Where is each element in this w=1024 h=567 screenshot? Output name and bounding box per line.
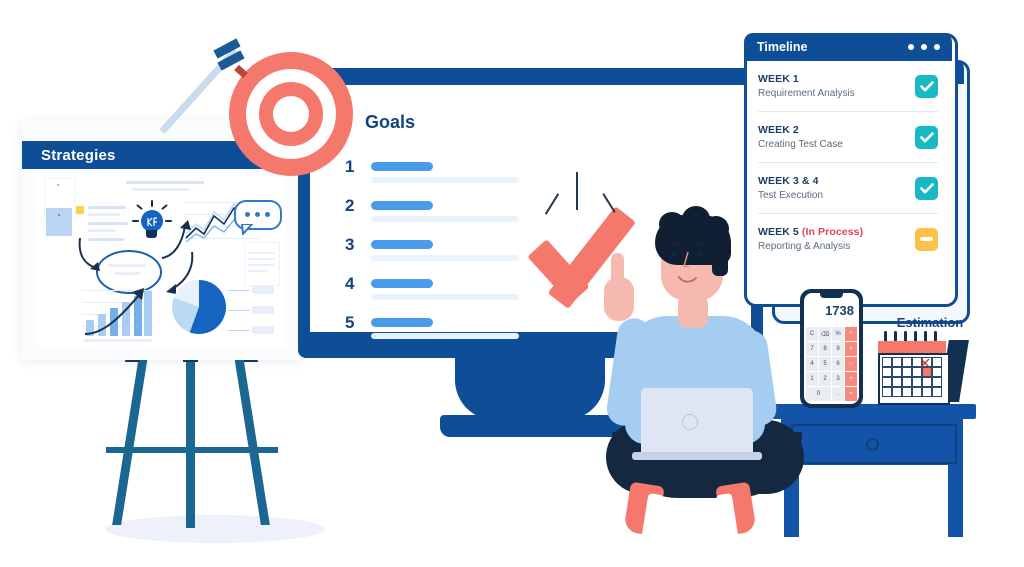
calendar-cell[interactable] [892,387,902,397]
illustration-canvas: Strategies [0,0,1024,567]
ellipse-line [108,264,146,267]
board-text-line [88,213,120,216]
calculator-keypad: C ⌫ % ÷ 7 8 9 × 4 5 6 − 1 2 3 + 0 . = [806,327,857,401]
timeline-title: Timeline [744,40,807,54]
calc-key-7[interactable]: 7 [806,342,818,356]
side-document-line [248,270,268,272]
monitor-screen-topline [310,80,751,85]
calculator-display: 1738 [804,303,859,318]
board-text-line [88,222,128,225]
calendar-cell-marked[interactable] [922,367,932,377]
calendar-cell[interactable] [912,377,922,387]
calendar-cell[interactable] [902,357,912,367]
timeline-task-label: Reporting & Analysis [758,241,863,252]
calc-key-divide[interactable]: ÷ [845,327,857,341]
easel-leg-right [233,350,270,525]
person-mouth [678,276,698,286]
goal-bar [371,201,433,210]
laptop-base [632,452,762,460]
timeline-task-label: Test Execution [758,190,823,201]
sticky-note-yellow [76,206,84,214]
ellipse-line [114,272,140,275]
timeline-row-text: WEEK 1 Requirement Analysis [758,73,855,99]
target-arrow-fletching [214,40,254,78]
desk-drawer-knob[interactable] [866,438,879,451]
calc-key-minus[interactable]: − [845,357,857,371]
check-icon [920,183,934,194]
timeline-list: WEEK 1 Requirement Analysis WEEK 2 Creat… [744,61,952,301]
goal-placeholder-line [371,255,519,261]
calendar-marked-x-icon [920,358,930,368]
calendar-cell[interactable] [892,367,902,377]
side-document-line [248,264,274,266]
timeline-window-header: Timeline [744,33,952,61]
easel-floor-shadow [105,515,325,543]
goal-bar [371,279,433,288]
calc-key-plus[interactable]: + [845,372,857,386]
target-ring-center [281,104,301,124]
person-nose [682,252,692,272]
calendar-cell[interactable] [882,357,892,367]
person-index-finger [611,253,624,289]
calendar-cell[interactable] [932,357,942,367]
calendar-cell[interactable] [882,377,892,387]
goal-placeholder-line [371,216,519,222]
timeline-row[interactable]: WEEK 1 Requirement Analysis [758,61,938,112]
window-dot-2[interactable] [921,44,927,50]
calendar-cell[interactable] [892,357,902,367]
person-eyebrow-left [668,243,680,245]
goal-bar [371,240,433,249]
calc-key-3[interactable]: 3 [832,372,844,386]
flow-arrow-down-left [76,236,108,278]
pie-chart-legend [228,280,284,338]
calc-key-decimal[interactable]: . [832,387,844,401]
calendar-header-band [878,341,946,353]
sticky-note-blue-dot [58,214,60,216]
timeline-task-label: Requirement Analysis [758,88,855,99]
goal-number: 2 [345,196,363,216]
board-text-line [88,229,116,232]
timeline-status-checkbox[interactable] [915,75,938,98]
board-text-line [88,206,126,209]
calc-key-5[interactable]: 5 [819,357,831,371]
calendar-cell[interactable] [912,387,922,397]
goals-title: Goals [365,112,415,133]
sticky-note-dot [57,184,59,186]
strategies-board-content [38,176,286,348]
person-eyebrow-right [694,243,706,245]
sticky-note-blue [46,208,72,236]
calendar-cell[interactable] [932,367,942,377]
person-hair-curl-3 [703,216,729,242]
goal-item: 1 [345,157,540,183]
timeline-row[interactable]: WEEK 3 & 4 Test Execution [758,163,938,214]
goal-number: 3 [345,235,363,255]
timeline-week-label: WEEK 3 & 4 [758,175,823,187]
monitor-base [440,415,625,437]
timeline-row-text: WEEK 2 Creating Test Case [758,124,843,150]
timeline-row-text: WEEK 3 & 4 Test Execution [758,175,823,201]
side-document-line [248,258,274,260]
timeline-task-label: Creating Test Case [758,139,843,150]
phone-notch [820,293,843,298]
easel-crossbar [106,447,278,453]
calc-key-8[interactable]: 8 [819,342,831,356]
timeline-week-label: WEEK 1 [758,73,855,85]
calendar-cell[interactable] [922,377,932,387]
calendar-cell[interactable] [902,387,912,397]
calendar-cell[interactable] [882,387,892,397]
calc-key-6[interactable]: 6 [832,357,844,371]
desk-leg-right [948,465,963,537]
board-heading-line [126,181,204,184]
calendar-cell[interactable] [932,377,942,387]
calendar-cell[interactable] [902,377,912,387]
strategies-title: Strategies [22,147,116,164]
window-controls[interactable] [908,44,952,50]
goal-item: 3 [345,235,540,261]
check-icon [920,81,934,92]
goal-placeholder-line [371,177,519,183]
calc-key-multiply[interactable]: × [845,342,857,356]
calc-key-0[interactable]: 0 [806,387,831,401]
calendar-cell[interactable] [882,367,892,377]
estimation-title: Estimation [880,315,980,330]
board-heading-line [132,188,190,191]
calc-key-4[interactable]: 4 [806,357,818,371]
goal-placeholder-line [371,294,519,300]
timeline-status-checkbox[interactable] [915,177,938,200]
person-eye-left [671,252,677,258]
calc-key-2[interactable]: 2 [819,372,831,386]
calc-key-equals[interactable]: = [845,387,857,401]
speech-bubble-tail [240,224,254,235]
side-document-line [248,252,274,254]
calendar-grid [882,357,942,397]
goal-bar [371,162,433,171]
goal-bar [371,318,433,327]
calc-key-clear[interactable]: C [806,327,818,341]
person-eye-right [697,252,703,258]
minus-icon [920,237,933,241]
goal-number: 4 [345,274,363,294]
bar-chart [82,284,154,344]
calc-key-1[interactable]: 1 [806,372,818,386]
timeline-status-checkbox[interactable] [915,126,938,149]
calendar-cell[interactable] [922,387,932,397]
timeline-week-label: WEEK 5 (In Process) [758,226,863,238]
accent-line-center [576,172,578,210]
calendar-cell[interactable] [902,367,912,377]
person-sideburn [712,246,728,276]
goal-placeholder-line [371,333,519,339]
timeline-row[interactable]: WEEK 5 (In Process) Reporting & Analysis [758,214,938,264]
check-icon [920,132,934,143]
calc-key-backspace[interactable]: ⌫ [819,327,831,341]
goal-item: 4 [345,274,540,300]
timeline-row[interactable]: WEEK 2 Creating Test Case [758,112,938,163]
pie-chart [172,280,226,334]
timeline-week-label: WEEK 2 [758,124,843,136]
goal-item: 5 [345,313,540,339]
easel-leg-left [112,350,149,525]
easel-leg-center [186,350,195,528]
timeline-week-number: WEEK 5 [758,226,799,238]
desk-top [768,404,976,419]
timeline-inprocess-badge: (In Process) [802,226,863,238]
window-dot-3[interactable] [934,44,940,50]
timeline-status-inprogress[interactable] [915,228,938,251]
timeline-row-text: WEEK 5 (In Process) Reporting & Analysis [758,226,863,252]
monitor-neck [455,358,605,420]
laptop-logo [682,414,698,430]
calc-key-percent[interactable]: % [832,327,844,341]
person-hair-curl-1 [659,212,685,236]
calendar-cell[interactable] [932,387,942,397]
calendar-cell[interactable] [912,367,922,377]
calendar-cell[interactable] [892,377,902,387]
window-dot-1[interactable] [908,44,914,50]
calc-key-9[interactable]: 9 [832,342,844,356]
goal-item: 2 [345,196,540,222]
goal-number: 5 [345,313,363,333]
